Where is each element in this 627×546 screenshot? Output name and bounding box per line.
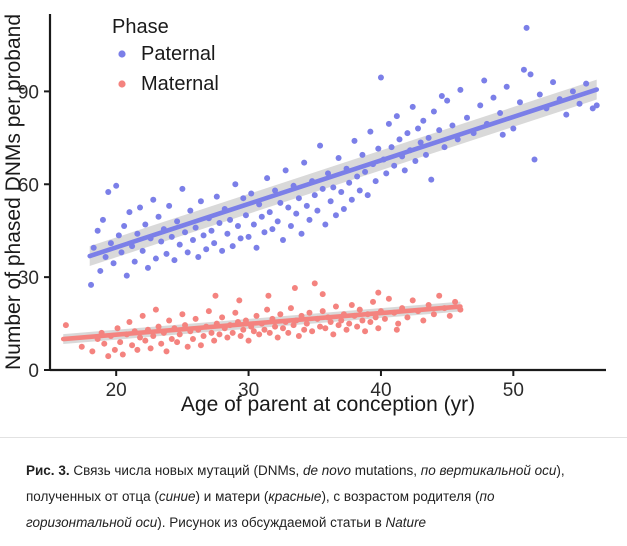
data-point — [373, 178, 379, 184]
data-point — [296, 195, 302, 201]
data-point — [336, 155, 342, 161]
legend-marker-paternal[interactable] — [118, 50, 125, 57]
caption-italic-nature: Nature — [386, 515, 427, 530]
data-point — [238, 235, 244, 241]
data-point — [156, 214, 162, 220]
data-point — [182, 229, 188, 235]
data-point — [386, 296, 392, 302]
data-point — [251, 222, 257, 228]
data-point — [296, 333, 302, 339]
caption-italic-red: красные — [268, 489, 321, 504]
data-point — [124, 273, 130, 279]
data-point — [426, 135, 432, 141]
data-point — [410, 297, 416, 303]
data-point — [113, 183, 119, 189]
data-point — [367, 319, 373, 325]
data-point — [158, 239, 164, 245]
data-point — [169, 234, 175, 240]
data-point — [349, 197, 355, 203]
data-point — [359, 152, 365, 158]
caption-text-a: Связь числа новых мутаций (DNMs, — [70, 463, 303, 478]
data-point — [190, 237, 196, 243]
data-point — [328, 198, 334, 204]
data-point — [497, 110, 503, 116]
data-point — [304, 203, 310, 209]
data-point — [209, 228, 215, 234]
data-point — [517, 99, 523, 105]
data-point — [410, 104, 416, 110]
data-point — [357, 187, 363, 193]
caption-italic-de-novo: de novo — [303, 463, 351, 478]
data-point — [101, 341, 107, 347]
data-point — [134, 231, 140, 237]
data-point — [402, 167, 408, 173]
data-point — [272, 324, 278, 330]
data-point — [243, 212, 249, 218]
data-point — [261, 229, 267, 235]
data-point — [254, 313, 260, 319]
data-point — [537, 91, 543, 97]
data-point — [528, 71, 534, 77]
data-point — [224, 335, 230, 341]
figure-panel: 030609020304050Age of parent at concepti… — [0, 0, 627, 430]
data-point — [216, 331, 222, 337]
data-point — [174, 339, 180, 345]
data-point — [532, 157, 538, 163]
data-point — [436, 293, 442, 299]
data-point — [436, 127, 442, 133]
data-point — [442, 144, 448, 150]
data-point — [88, 282, 94, 288]
data-point — [140, 313, 146, 319]
data-point — [378, 74, 384, 80]
data-point — [320, 308, 326, 314]
data-point — [521, 67, 527, 73]
figure-caption: Рис. 3. Связь числа новых мутаций (DNMs,… — [26, 458, 601, 536]
data-point — [570, 88, 576, 94]
data-point — [195, 254, 201, 260]
data-point — [420, 317, 426, 323]
data-point — [164, 251, 170, 257]
data-point — [132, 259, 138, 265]
data-point — [320, 186, 326, 192]
data-point — [164, 348, 170, 354]
data-point — [153, 307, 159, 313]
data-point — [299, 231, 305, 237]
data-point — [224, 231, 230, 237]
data-point — [375, 325, 381, 331]
data-point — [322, 325, 328, 331]
legend-marker-maternal[interactable] — [118, 80, 125, 87]
data-point — [444, 98, 450, 104]
data-point — [423, 152, 429, 158]
data-point — [179, 311, 185, 317]
data-point — [219, 248, 225, 254]
data-point — [238, 333, 244, 339]
data-point — [212, 293, 218, 299]
data-point — [185, 344, 191, 350]
data-point — [174, 218, 180, 224]
data-point — [97, 268, 103, 274]
data-point — [185, 249, 191, 255]
data-point — [201, 232, 207, 238]
data-point — [259, 214, 265, 220]
data-point — [142, 338, 148, 344]
data-point — [283, 167, 289, 173]
data-point — [211, 240, 217, 246]
data-point — [100, 217, 106, 223]
data-point — [292, 285, 298, 291]
data-point — [477, 102, 483, 108]
data-point — [79, 344, 85, 350]
data-point — [198, 198, 204, 204]
data-point — [145, 265, 151, 271]
data-point — [431, 311, 437, 317]
data-point — [563, 112, 569, 118]
data-point — [428, 177, 434, 183]
data-point — [246, 234, 252, 240]
data-point — [386, 121, 392, 127]
data-point — [267, 330, 273, 336]
data-point — [354, 174, 360, 180]
data-point — [115, 325, 121, 331]
data-point — [240, 195, 246, 201]
x-tick-label: 50 — [503, 380, 524, 401]
data-point — [383, 170, 389, 176]
data-point — [365, 192, 371, 198]
series-maternal — [63, 280, 463, 359]
caption-divider — [0, 437, 627, 438]
scatter-plot: 030609020304050Age of parent at concepti… — [0, 0, 627, 430]
data-point — [166, 317, 172, 323]
legend-label-maternal[interactable]: Maternal — [141, 73, 219, 95]
data-point — [322, 222, 328, 228]
data-point — [280, 237, 286, 243]
data-point — [550, 79, 556, 85]
data-point — [389, 144, 395, 150]
data-point — [370, 299, 376, 305]
data-point — [354, 324, 360, 330]
data-point — [187, 208, 193, 214]
data-point — [264, 175, 270, 181]
data-point — [209, 330, 215, 336]
data-point — [464, 115, 470, 121]
legend: PhasePaternalMaternal — [112, 16, 219, 95]
data-point — [330, 184, 336, 190]
data-point — [148, 345, 154, 351]
data-point — [404, 130, 410, 136]
data-point — [275, 218, 281, 224]
data-point — [288, 223, 294, 229]
data-point — [367, 129, 373, 135]
data-point — [91, 245, 97, 251]
data-point — [116, 232, 122, 238]
caption-italic-blue: синие — [159, 489, 196, 504]
data-point — [134, 347, 140, 353]
caption-text-b: mutations, — [351, 463, 421, 478]
data-point — [341, 206, 347, 212]
data-point — [211, 338, 217, 344]
data-point — [293, 211, 299, 217]
data-point — [126, 209, 132, 215]
data-point — [577, 101, 583, 107]
y-axis-title: Number of phased DNMs per proband — [2, 14, 25, 370]
data-point — [216, 220, 222, 226]
data-point — [89, 348, 95, 354]
data-point — [156, 324, 162, 330]
data-point — [236, 297, 242, 303]
data-point — [396, 136, 402, 142]
data-point — [95, 228, 101, 234]
regression-line-paternal — [90, 90, 597, 257]
data-point — [420, 118, 426, 124]
data-point — [230, 243, 236, 249]
data-point — [583, 81, 589, 87]
legend-label-paternal[interactable]: Paternal — [141, 43, 216, 65]
data-point — [150, 197, 156, 203]
data-point — [312, 192, 318, 198]
data-point — [261, 327, 267, 333]
data-point — [362, 169, 368, 175]
data-point — [317, 324, 323, 330]
caption-figure-label: Рис. 3. — [26, 463, 70, 478]
data-point — [285, 330, 291, 336]
data-point — [126, 319, 132, 325]
data-point — [105, 353, 111, 359]
data-point — [171, 257, 177, 263]
data-point — [328, 319, 334, 325]
data-point — [269, 226, 275, 232]
data-point — [230, 330, 236, 336]
data-point — [447, 313, 453, 319]
data-point — [179, 186, 185, 192]
data-point — [142, 222, 148, 228]
data-point — [490, 95, 496, 101]
data-point — [219, 314, 225, 320]
data-point — [346, 180, 352, 186]
data-point — [121, 223, 127, 229]
data-point — [314, 208, 320, 214]
data-point — [277, 200, 283, 206]
data-point — [277, 311, 283, 317]
data-point — [412, 158, 418, 164]
data-point — [594, 102, 600, 108]
data-point — [240, 327, 246, 333]
data-point — [232, 310, 238, 316]
data-point — [404, 314, 410, 320]
data-point — [275, 335, 281, 341]
x-tick-label: 20 — [106, 380, 127, 401]
data-point — [382, 316, 388, 322]
data-point — [481, 78, 487, 84]
data-point — [267, 209, 273, 215]
data-point — [457, 87, 463, 93]
data-point — [333, 212, 339, 218]
data-point — [105, 189, 111, 195]
data-point — [248, 191, 254, 197]
data-point — [177, 331, 183, 337]
data-point — [193, 316, 199, 322]
x-axis-title: Age of parent at conception (yr) — [181, 393, 475, 416]
data-point — [349, 302, 355, 308]
data-point — [504, 84, 510, 90]
caption-italic-vertical-axis: по вертикальной оси — [421, 463, 557, 478]
data-point — [63, 322, 69, 328]
data-point — [309, 328, 315, 334]
data-point — [395, 321, 401, 327]
data-point — [158, 341, 164, 347]
data-point — [431, 109, 437, 115]
data-point — [394, 113, 400, 119]
caption-text-d: ) и матери ( — [196, 489, 269, 504]
data-point — [140, 248, 146, 254]
data-point — [306, 217, 312, 223]
data-point — [254, 245, 260, 251]
data-point — [251, 328, 257, 334]
data-point — [301, 327, 307, 333]
data-point — [285, 204, 291, 210]
data-point — [415, 126, 421, 132]
data-point — [214, 194, 220, 200]
data-point — [359, 317, 365, 323]
data-point — [203, 246, 209, 252]
data-point — [391, 163, 397, 169]
data-point — [108, 240, 114, 246]
data-point — [256, 331, 262, 337]
data-point — [375, 290, 381, 296]
data-point — [118, 249, 124, 255]
data-point — [198, 342, 204, 348]
data-point — [227, 217, 233, 223]
legend-title: Phase — [112, 16, 169, 38]
data-point — [201, 333, 207, 339]
data-point — [232, 181, 238, 187]
data-point — [153, 256, 159, 262]
data-point — [193, 225, 199, 231]
data-point — [177, 242, 183, 248]
data-point — [280, 325, 286, 331]
data-point — [169, 336, 175, 342]
data-point — [394, 327, 400, 333]
data-point — [524, 25, 530, 31]
data-point — [362, 328, 368, 334]
data-point — [264, 307, 270, 313]
data-point — [351, 138, 357, 144]
data-point — [166, 203, 172, 209]
data-point — [103, 254, 109, 260]
data-point — [330, 331, 336, 337]
data-point — [338, 189, 344, 195]
data-point — [137, 204, 143, 210]
data-point — [301, 160, 307, 166]
caption-text-e: ), с возрастом родителя ( — [321, 489, 479, 504]
data-point — [137, 335, 143, 341]
data-point — [333, 304, 339, 310]
data-point — [312, 280, 318, 286]
data-point — [344, 327, 350, 333]
data-point — [129, 342, 135, 348]
data-point — [510, 126, 516, 132]
data-point — [120, 352, 126, 358]
data-point — [500, 132, 506, 138]
data-point — [439, 93, 445, 99]
data-point — [320, 291, 326, 297]
data-point — [452, 299, 458, 305]
data-point — [117, 339, 123, 345]
data-point — [235, 223, 241, 229]
y-tick-label: 0 — [28, 361, 39, 382]
data-point — [206, 308, 212, 314]
data-point — [449, 122, 455, 128]
data-point — [265, 293, 271, 299]
caption-text-f: ). Рисунок из обсуждаемой статьи в — [157, 515, 385, 530]
data-point — [246, 338, 252, 344]
data-point — [111, 260, 117, 266]
data-point — [357, 307, 363, 313]
data-point — [190, 336, 196, 342]
data-point — [375, 146, 381, 152]
data-point — [288, 305, 294, 311]
data-point — [317, 143, 323, 149]
data-point — [346, 321, 352, 327]
data-point — [306, 310, 312, 316]
data-point — [112, 347, 118, 353]
